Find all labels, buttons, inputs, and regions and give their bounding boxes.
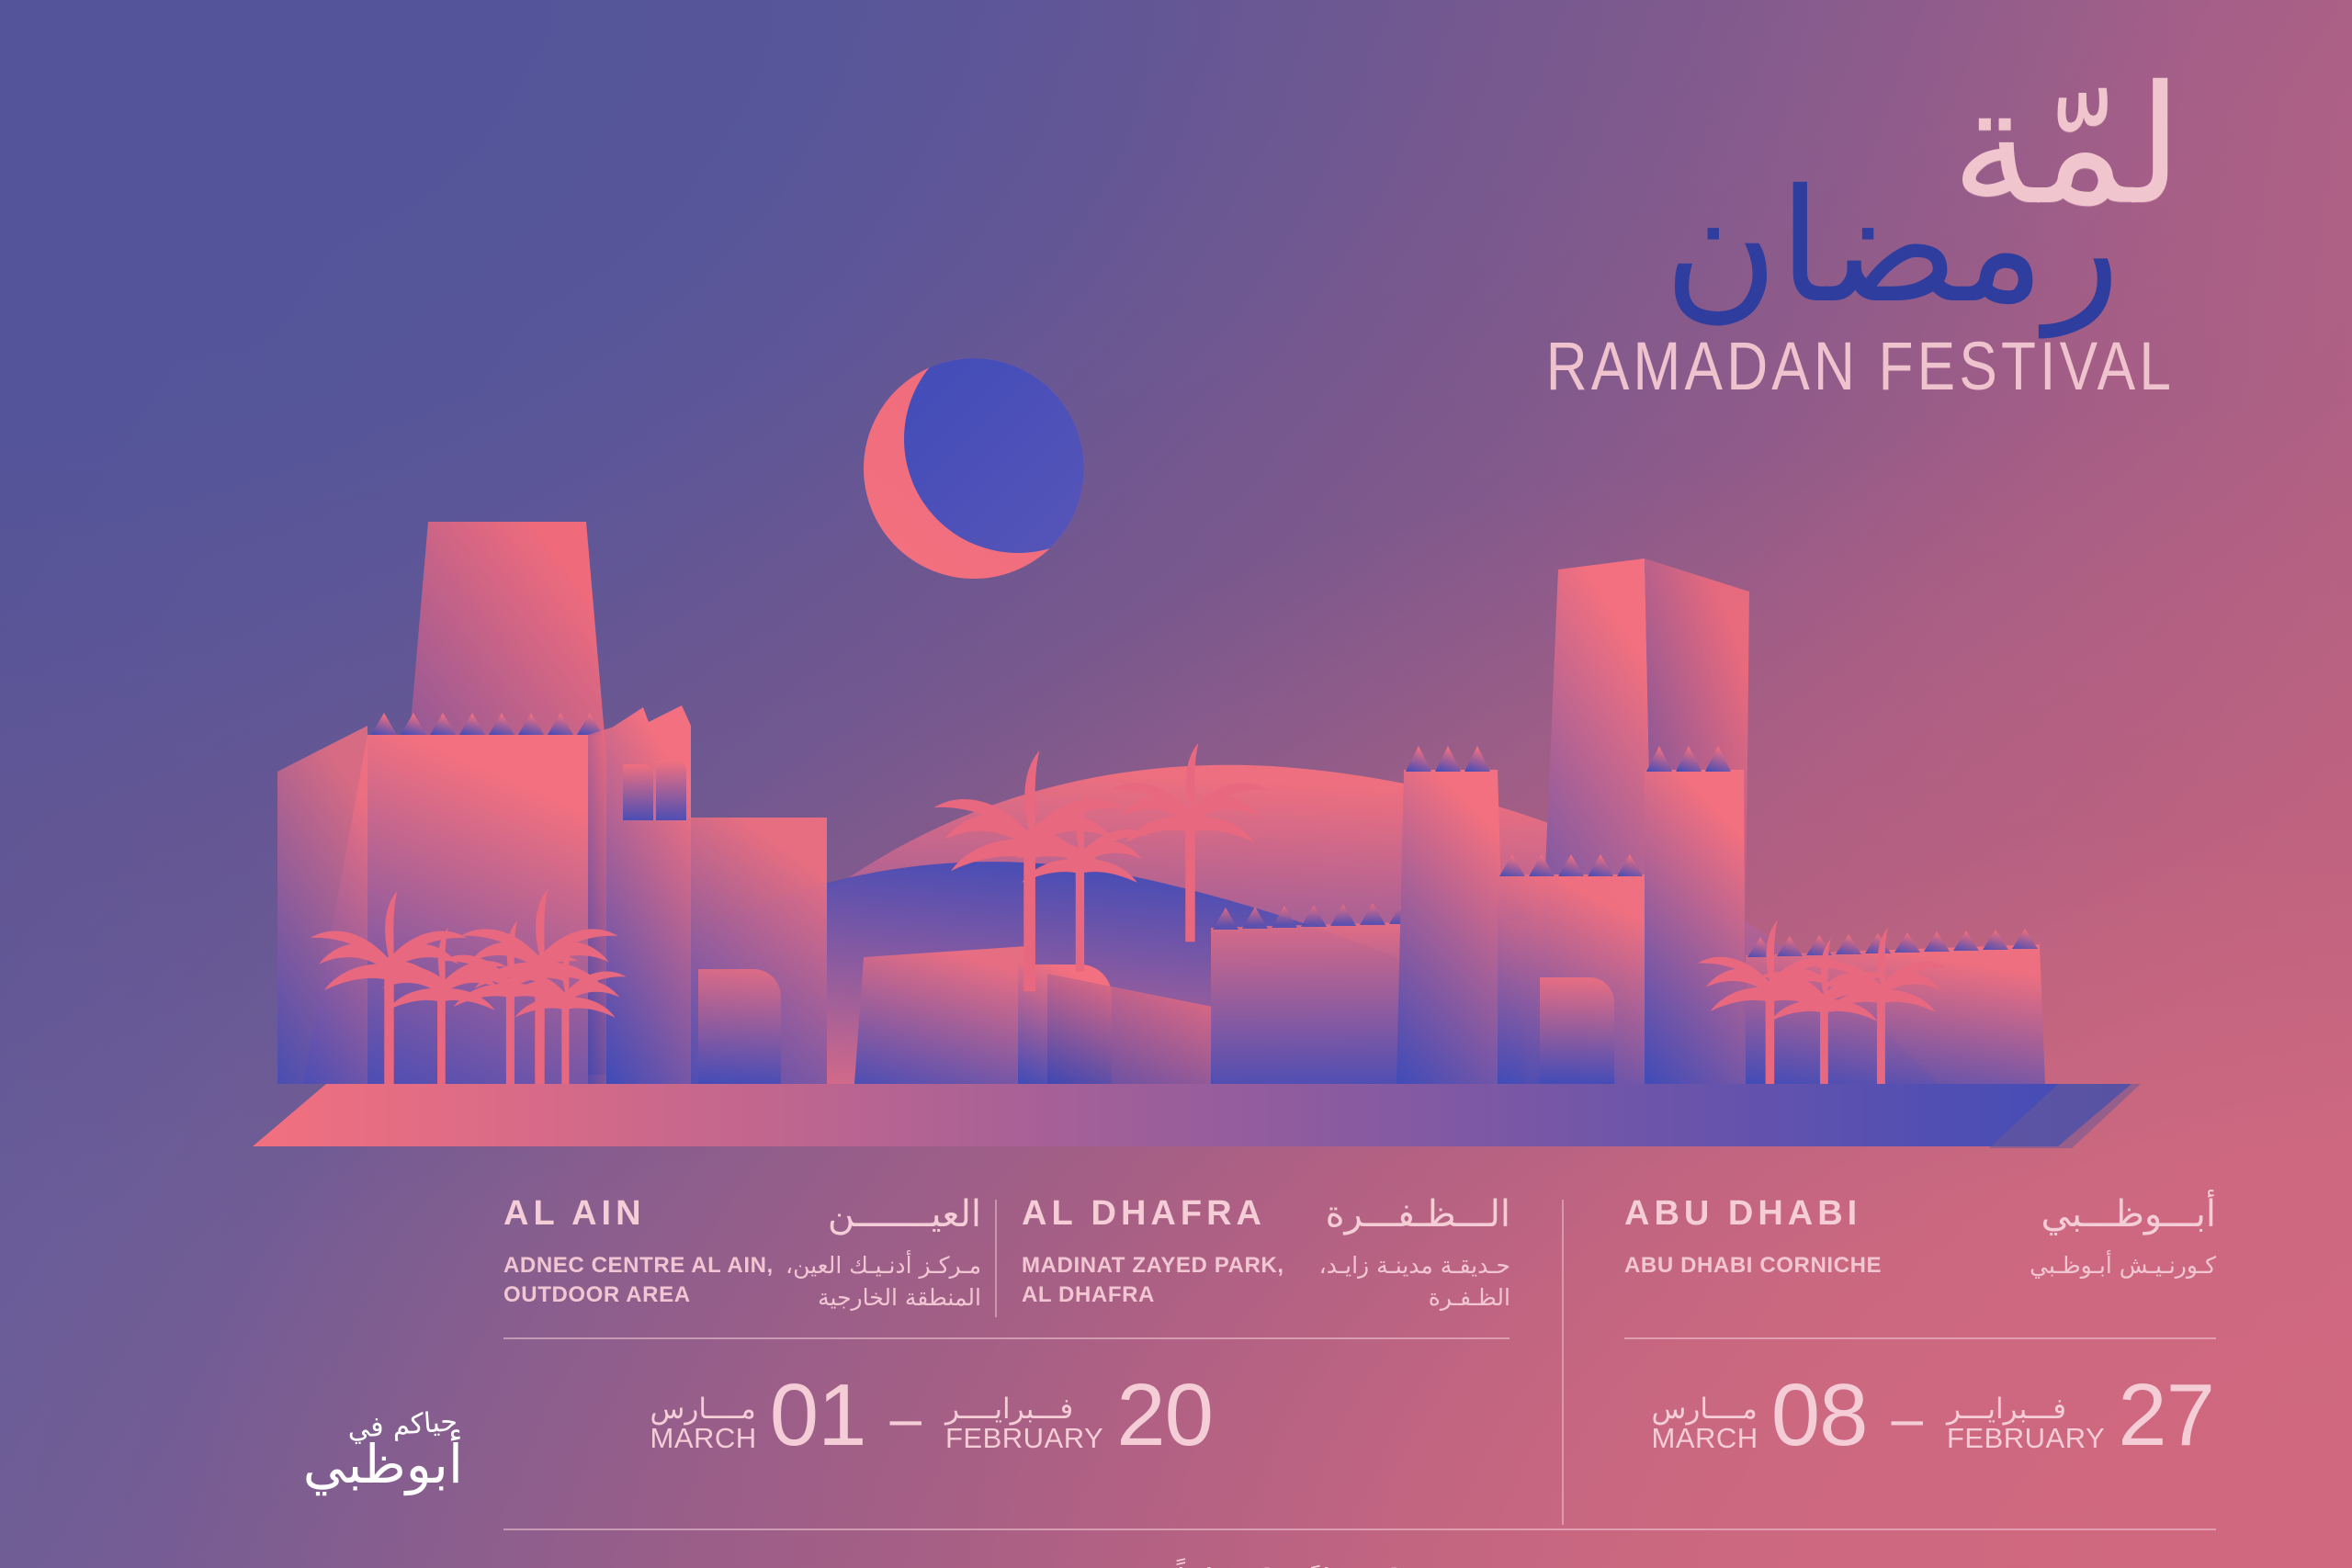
event-time-en: 8 PM - 2 AM [948, 1562, 1125, 1568]
divider-dates-time [503, 1529, 2216, 1530]
divider-venue-dates-right [1624, 1337, 2216, 1339]
event-time-bar: 8 PM - 2 AM 8 مساءً - 2 صباحاً [0, 1562, 2352, 1568]
date-end-1: 01 مــــارس MARCH [650, 1380, 866, 1452]
date-start-2: 27 فـــبرايـــر FEBRUARY [1947, 1380, 2214, 1452]
divider-alain-aldhafra [995, 1200, 997, 1317]
date-end-month-en-1: MARCH [650, 1424, 757, 1452]
brand-name-ar: أبوظبي [303, 1433, 463, 1495]
venue-en-abu-dhabi: ABU DHABI CORNICHE [1624, 1251, 1882, 1280]
date-end-month-ar-1: مــــارس [650, 1395, 756, 1424]
date-range-abu-dhabi: 27 فـــبرايـــر FEBRUARY – 08 مــــارس M… [1652, 1380, 2214, 1452]
crescent-moon-icon [864, 325, 1132, 579]
date-end-2: 08 مــــارس MARCH [1652, 1380, 1868, 1452]
venue-ar-abu-dhabi: كـورنـيـش أبـوظـبي [2030, 1249, 2216, 1281]
city-name-en-al-dhafra: AL DHAFRA [1022, 1196, 1266, 1231]
date-end-month-en-2: MARCH [1652, 1424, 1758, 1452]
date-separator-1: – [886, 1393, 924, 1452]
date-end-day-1: 01 [770, 1380, 866, 1452]
base-platform [253, 1084, 2141, 1148]
event-time-ar: 8 مساءً - 2 صباحاً [1177, 1562, 1404, 1568]
date-separator-2: – [1887, 1393, 1926, 1452]
festival-logo: لمّة رمضان RAMADAN FESTIVAL [1490, 81, 2188, 400]
date-range-al-ain-al-dhafra: 20 فـــبرايــــر FEBRUARY – 01 مــــارس … [650, 1380, 1213, 1452]
experience-abu-dhabi-logo: حياكم في أبوظبي [274, 1405, 467, 1508]
city-block-al-ain: AL AIN العيـــــــن ADNEC CENTRE AL AIN,… [503, 1196, 981, 1314]
arabic-logotype: لمّة رمضان [1490, 81, 2188, 320]
city-name-en-abu-dhabi: ABU DHABI [1624, 1196, 1861, 1231]
city-name-en-al-ain: AL AIN [503, 1196, 646, 1231]
city-name-ar-abu-dhabi: أبـــوظـــبي [2041, 1196, 2216, 1233]
city-block-abu-dhabi: ABU DHABI أبـــوظـــبي ABU DHABI CORNICH… [1624, 1196, 2216, 1281]
date-start-month-ar-2: فـــبرايـــر [1947, 1395, 2066, 1424]
city-block-al-dhafra: AL DHAFRA الـــظـفـــرة MADINAT ZAYED PA… [1022, 1196, 1510, 1314]
window-tower [606, 705, 691, 1084]
arabic-word-ramadan: رمضان [1664, 169, 2120, 325]
ramadan-festival-poster: لمّة رمضان RAMADAN FESTIVAL AL AIN العيـ… [0, 0, 2352, 1568]
venue-en-al-dhafra: MADINAT ZAYED PARK, AL DHAFRA [1022, 1251, 1284, 1311]
date-start-day-2: 27 [2118, 1380, 2214, 1452]
date-start-month-en-2: FEBRUARY [1947, 1424, 2105, 1452]
city-name-ar-al-dhafra: الـــظـفـــرة [1326, 1196, 1510, 1233]
date-start-month-en-1: FEBRUARY [945, 1424, 1103, 1452]
date-end-month-ar-2: مــــارس [1652, 1395, 1758, 1424]
venue-ar-al-dhafra: حـديقـة مدينـة زايـد، الظـفـرة [1319, 1249, 1510, 1314]
divider-venue-dates-left [503, 1337, 1510, 1339]
city-name-ar-al-ain: العيـــــــن [828, 1196, 981, 1233]
divider-aldhafra-abudhabi [1562, 1200, 1564, 1525]
fort-wall-left [691, 818, 827, 1084]
venue-en-al-ain: ADNEC CENTRE AL AIN, OUTDOOR AREA [503, 1251, 774, 1311]
date-end-day-2: 08 [1771, 1380, 1868, 1452]
venue-ar-al-ain: مـركـز أدنـيـك العين، المنطقة الخارجية [786, 1249, 981, 1314]
page-title: RAMADAN FESTIVAL [1546, 333, 2132, 400]
date-start-day-1: 20 [1116, 1380, 1213, 1452]
date-start-1: 20 فـــبرايــــر FEBRUARY [945, 1380, 1213, 1452]
date-start-month-ar-1: فـــبرايــــر [945, 1395, 1073, 1424]
